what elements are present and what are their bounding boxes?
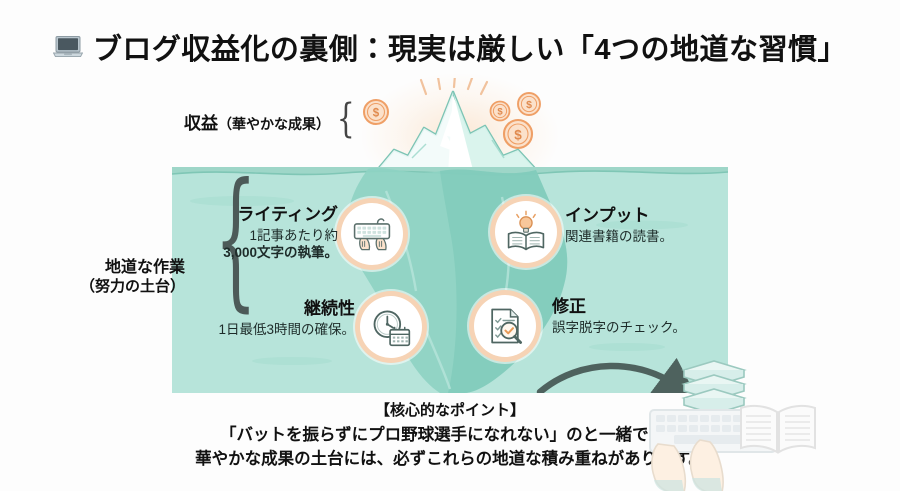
base-label: 地道な作業 （努力の土台） [20,258,185,297]
revenue-label: 収益（華やかな成果） [120,113,330,134]
node-writing[interactable] [341,203,403,265]
svg-text:$: $ [373,108,380,120]
item-text-fix: 修正 誤字脱字のチェック。 [552,296,722,336]
footer-line-2: 「バットを振らずにプロ野球選手になれない」のと一緒です。 [0,423,900,448]
document-magnifier-check-icon [483,304,527,348]
svg-text:$: $ [497,107,503,118]
open-book-lightbulb-icon [504,210,548,254]
item-text-continuity: 継続性 1日最低3時間の確保。 [205,298,355,338]
revenue-brace: { [337,96,355,142]
base-label-main: 地道な作業 [105,259,185,276]
item-detail-input-1: 関連書籍の読書。 [565,228,725,245]
node-input[interactable] [495,201,557,263]
slide-canvas: ブログ収益化の裏側：現実は厳しい「4つの地道な習慣」 $ $ [0,0,900,491]
item-heading-input: インプット [565,205,725,227]
underwater-panel: { [172,167,728,393]
item-detail-fix-1: 誤字脱字のチェック。 [552,319,722,336]
clock-calendar-icon [369,305,413,349]
page-title: ブログ収益化の裏側：現実は厳しい「4つの地道な習慣」 [0,26,900,68]
item-text-writing: ライティング 1記事あたり約 3,000文字の執筆。 [210,204,338,261]
node-continuity[interactable] [360,296,422,358]
keyboard-typing-hands-icon [350,212,394,256]
base-label-sub: （努力の土台） [20,278,185,297]
svg-text:$: $ [514,127,522,142]
svg-text:$: $ [526,99,532,111]
footer-line-1: 【核心的なポイント】 [0,400,900,423]
revenue-label-sub: （華やかな成果） [218,116,330,132]
iceberg-above-water: $ $ $ $ [352,78,562,174]
page-title-text: ブログ収益化の裏側：現実は厳しい「4つの地道な習慣」 [93,26,847,68]
revenue-label-main: 収益 [184,114,218,133]
item-heading-continuity: 継続性 [205,298,355,320]
item-detail-continuity-1: 1日最低3時間の確保。 [205,321,355,338]
item-detail-writing-2: 3,000文字の執筆。 [210,244,338,261]
node-fix[interactable] [474,295,536,357]
item-heading-fix: 修正 [552,296,722,318]
footer-note: 【核心的なポイント】 「バットを振らずにプロ野球選手になれない」のと一緒です。 … [0,400,900,472]
laptop-icon [53,35,83,59]
footer-line-3: 華やかな成果の土台には、必ずこれらの地道な積み重ねがあります。 [0,447,900,472]
item-heading-writing: ライティング [210,204,338,226]
item-text-input: インプット 関連書籍の読書。 [565,205,725,245]
item-detail-writing-1: 1記事あたり約 [210,227,338,244]
